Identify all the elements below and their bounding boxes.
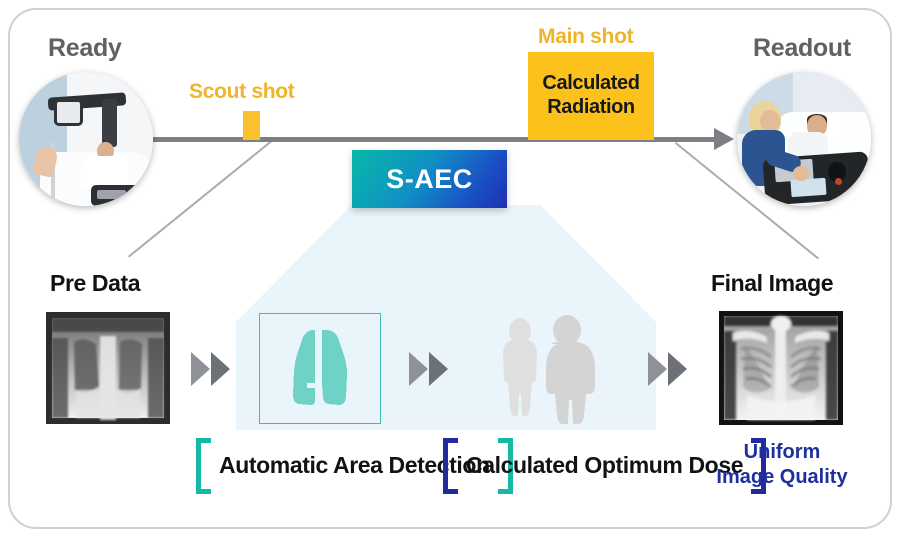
calculated-radiation-line2: Radiation — [547, 96, 635, 118]
scout-shot-marker — [243, 111, 260, 140]
chevron-1-icon — [191, 352, 230, 386]
main-shot-label: Main shot — [538, 25, 633, 49]
scout-shot-label: Scout shot — [189, 80, 295, 104]
body-type-silhouettes — [488, 313, 618, 425]
pre-data-image — [46, 312, 170, 424]
timeline-arrowhead-icon — [714, 128, 734, 150]
lung-segmentation-icon — [272, 322, 368, 416]
aad-line1: Automatic — [219, 452, 328, 478]
pre-data-label: Pre Data — [50, 270, 140, 297]
diagram-root: Ready Readout Scout shot Main shot Calcu… — [0, 0, 900, 537]
chevron-3-icon — [648, 352, 687, 386]
uniform-image-quality: Uniform Image Quality — [702, 440, 862, 490]
uiq-line1: Uniform — [702, 440, 862, 465]
calculated-radiation-line1: Calculated — [542, 72, 639, 94]
cod-line1: Calculated — [466, 452, 578, 478]
ready-label: Ready — [48, 34, 122, 63]
bracket-left-navy — [443, 438, 458, 494]
readout-label: Readout — [753, 34, 851, 63]
ready-photo — [19, 72, 153, 206]
chevron-2-icon — [409, 352, 448, 386]
bracket-left-teal — [196, 438, 211, 494]
final-image — [719, 311, 843, 425]
readout-photo — [737, 72, 871, 206]
saec-label: S-AEC — [386, 164, 473, 195]
final-image-label: Final Image — [711, 270, 833, 297]
saec-badge: S-AEC — [352, 150, 507, 208]
main-shot-box: Calculated Radiation — [528, 52, 654, 140]
uiq-line2: Image Quality — [702, 465, 862, 490]
